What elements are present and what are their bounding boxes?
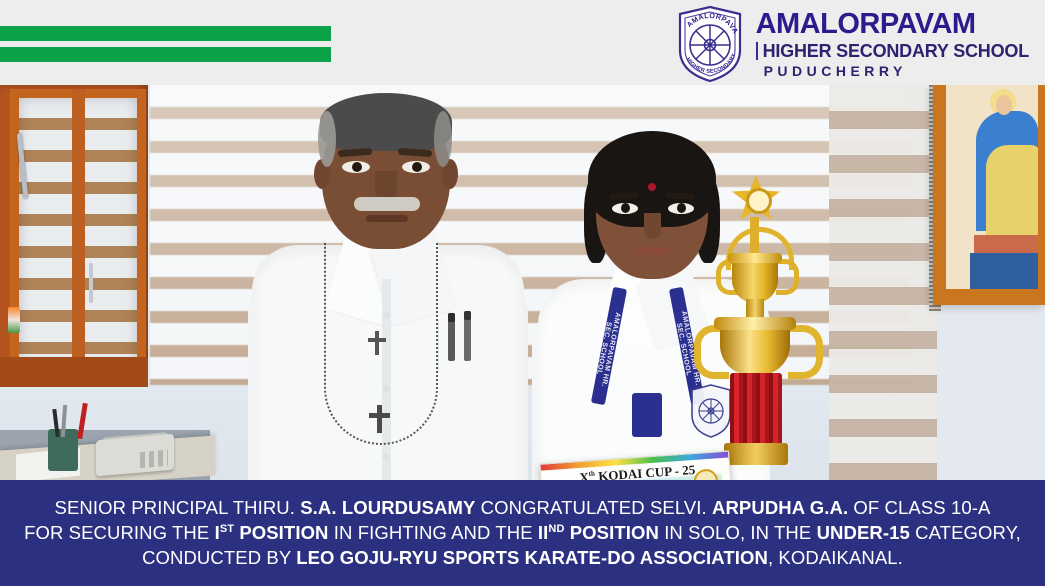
cabinet-divider bbox=[72, 89, 85, 357]
framed-picture bbox=[933, 85, 1045, 305]
cabinet-base bbox=[0, 357, 148, 387]
photograph: AMALORPAVAM HR. SEC. SCHOOL AMALORPAVAM … bbox=[0, 85, 1045, 480]
senior-principal-figure bbox=[262, 93, 512, 480]
lanyard-join bbox=[632, 393, 662, 437]
caption-banner: SENIOR PRINCIPAL THIRU. S.A. LOURDUSAMY … bbox=[0, 480, 1045, 586]
header-bar: AMALORPAVAM HIGHER SECONDARY SCHOOL AMAL… bbox=[0, 0, 1045, 85]
caption-l1-p1: SENIOR PRINCIPAL THIRU. bbox=[55, 497, 301, 518]
brand-subtitle: HIGHER SECONDARY SCHOOL bbox=[763, 42, 1029, 60]
certificate-emblem-3 bbox=[693, 468, 719, 480]
student-nose bbox=[644, 213, 661, 239]
caption-l3-p1: CONDUCTED BY bbox=[142, 547, 296, 568]
caption-second-ordinal: II bbox=[538, 522, 548, 543]
caption-second-ordinal-suffix: ND bbox=[548, 523, 564, 535]
poster: AMALORPAVAM HIGHER SECONDARY SCHOOL AMAL… bbox=[0, 0, 1045, 586]
brand-name: AMALORPAVAM bbox=[756, 10, 1029, 39]
caption-first-position: POSITION bbox=[234, 522, 328, 543]
picture-canvas bbox=[946, 85, 1038, 289]
trophy-upper-handle-right bbox=[776, 259, 799, 295]
caption-student-name: ARPUDHA G.A. bbox=[712, 497, 848, 518]
figure-head bbox=[996, 95, 1012, 115]
cabinet-handle-right bbox=[89, 263, 93, 303]
wall-panel-texture bbox=[829, 85, 939, 480]
trophy-base bbox=[724, 443, 788, 465]
trophy-red-column bbox=[730, 373, 782, 445]
student-pupil-left bbox=[621, 203, 630, 213]
rosary-link-cross-icon bbox=[366, 331, 388, 355]
crucifix-icon bbox=[366, 405, 392, 433]
principal-hair-grey-left bbox=[318, 111, 336, 167]
student-mouth bbox=[634, 247, 670, 255]
brand-text: AMALORPAVAM HIGHER SECONDARY SCHOOL PUDU… bbox=[756, 10, 1029, 78]
principal-mouth bbox=[366, 215, 408, 222]
school-shield-crest-icon: AMALORPAVAM HIGHER SECONDARY SCHOOL bbox=[674, 4, 746, 84]
green-bar-bottom bbox=[0, 47, 331, 62]
caption-l2-p2: IN FIGHTING AND THE bbox=[329, 522, 538, 543]
principal-hair bbox=[320, 93, 452, 151]
trophy-main-cup-rim bbox=[714, 317, 796, 330]
brand-lockup: AMALORPAVAM HIGHER SECONDARY SCHOOL AMAL… bbox=[674, 4, 1029, 84]
brand-divider bbox=[756, 42, 758, 60]
caption-l1-p2: CONGRATULATED SELVI. bbox=[475, 497, 712, 518]
telephone-keypad bbox=[140, 450, 168, 468]
green-bar-top bbox=[0, 26, 331, 41]
pocket-pen-icon bbox=[448, 313, 455, 361]
figure-bottom bbox=[970, 253, 1038, 289]
certificate-ordinal-suffix: th bbox=[588, 470, 595, 478]
green-accent-bars bbox=[0, 26, 331, 62]
principal-shirt-pocket bbox=[438, 321, 485, 373]
caption-line-3: CONDUCTED BY LEO GOJU-RYU SPORTS KARATE-… bbox=[142, 547, 903, 569]
principal-pupil-right bbox=[412, 162, 422, 172]
caption-second-position: POSITION bbox=[565, 522, 659, 543]
wooden-cabinet bbox=[0, 85, 148, 385]
trophy-upper-cup-rim bbox=[728, 253, 782, 263]
caption-l3-p2: , KODAIKANAL. bbox=[768, 547, 903, 568]
principal-hair-grey-right bbox=[434, 111, 452, 167]
caption-line-1: SENIOR PRINCIPAL THIRU. S.A. LOURDUSAMY … bbox=[55, 497, 991, 519]
caption-l2-p3: IN SOLO, IN THE bbox=[659, 522, 817, 543]
caption-organiser: LEO GOJU-RYU SPORTS KARATE-DO ASSOCIATIO… bbox=[296, 547, 768, 568]
caption-l2-p1: FOR SECURING THE bbox=[24, 522, 215, 543]
caption-l2-p4: CATEGORY, bbox=[910, 522, 1021, 543]
caption-first-ordinal-suffix: ST bbox=[220, 523, 234, 535]
bindi-icon bbox=[648, 183, 656, 191]
pocket-pen-icon bbox=[464, 311, 471, 361]
caption-principal-name: S.A. LOURDUSAMY bbox=[300, 497, 475, 518]
trophy-star-center bbox=[746, 188, 772, 214]
caption-l1-p3: OF CLASS 10-A bbox=[848, 497, 990, 518]
brand-subtitle-row: HIGHER SECONDARY SCHOOL bbox=[756, 42, 1029, 60]
shirt-button bbox=[382, 453, 390, 461]
caption-line-2: FOR SECURING THE IST POSITION IN FIGHTIN… bbox=[24, 522, 1021, 544]
principal-pupil-left bbox=[352, 162, 362, 172]
trophy bbox=[690, 175, 820, 480]
student-pupil-right bbox=[677, 203, 686, 213]
caption-category: UNDER-15 bbox=[817, 522, 910, 543]
cabinet-sticker bbox=[8, 307, 20, 333]
brand-city: PUDUCHERRY bbox=[764, 64, 1029, 78]
trophy-handle-right bbox=[788, 325, 823, 379]
principal-moustache bbox=[354, 197, 420, 211]
trophy-upper-cup bbox=[732, 257, 778, 303]
